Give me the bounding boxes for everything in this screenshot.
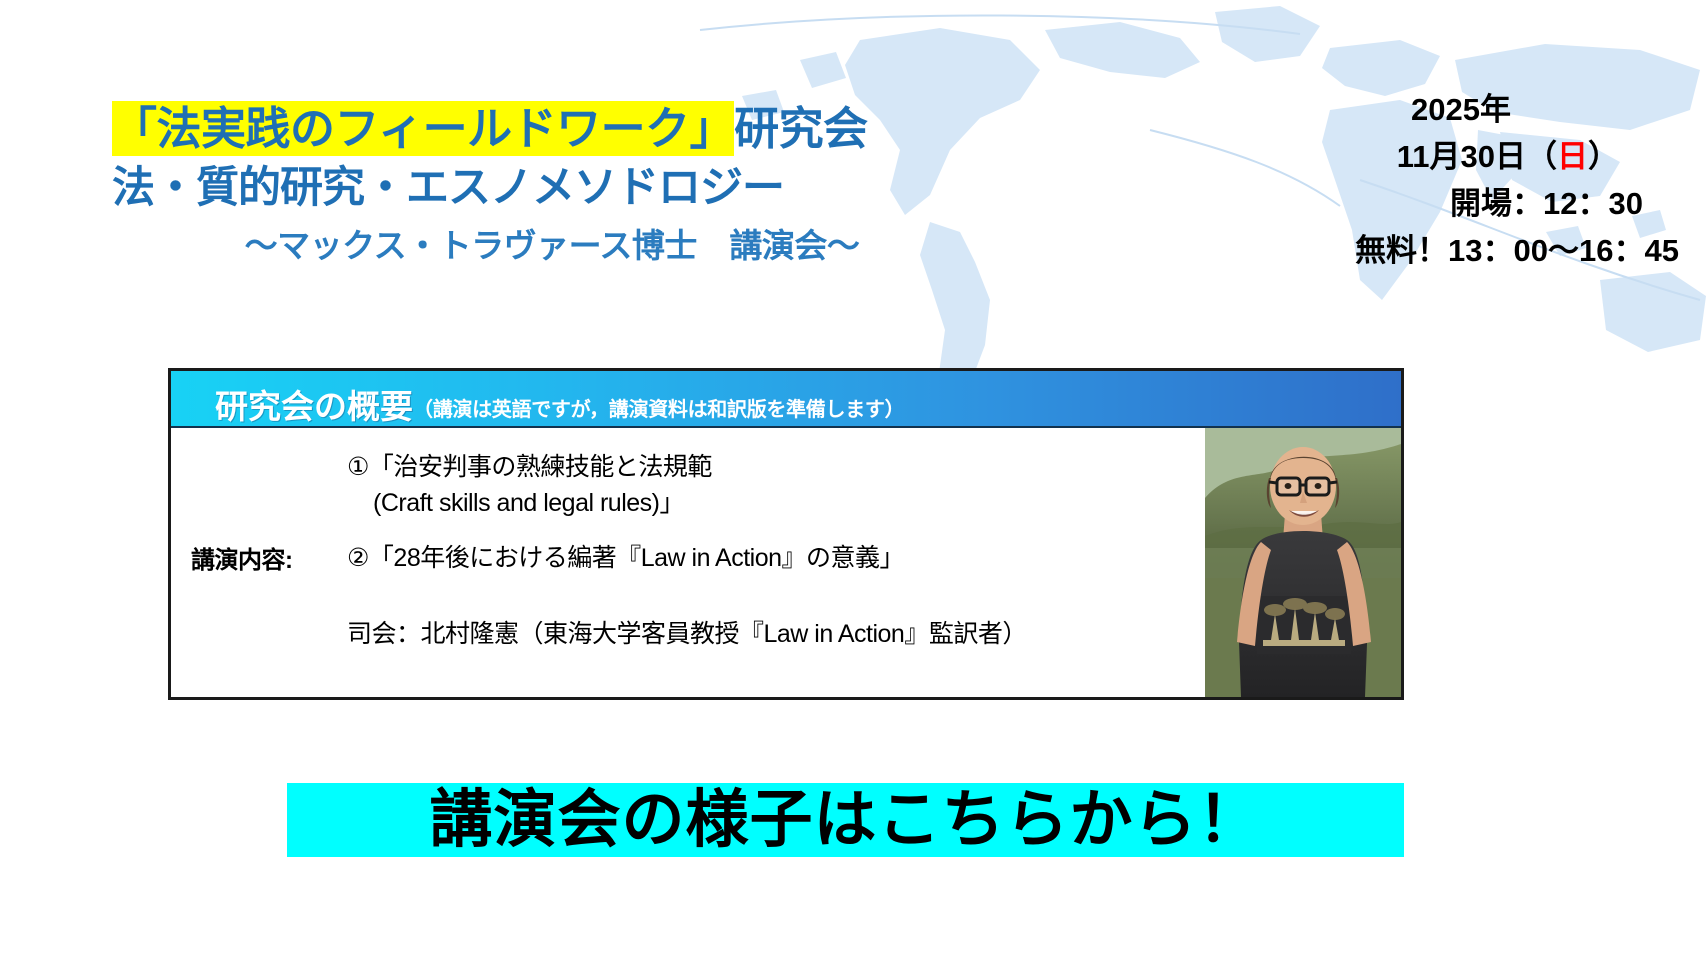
schedule-weekday: 日 [1557,139,1588,174]
page-title: 「法実践のフィールドワーク」研究会 [112,104,1032,154]
schedule-year: 2025年 [1079,86,1679,133]
title-block: 「法実践のフィールドワーク」研究会 法・質的研究・エスノメソドロジー ～マックス… [112,104,1032,267]
schedule-date-close: ） [1588,139,1619,174]
subtitle-primary: 法・質的研究・エスノメソドロジー [112,164,1032,213]
schedule-date: 11月30日（日） [1079,133,1679,180]
poster-header: 「法実践のフィールドワーク」研究会 法・質的研究・エスノメソドロジー ～マックス… [0,0,1707,330]
overview-box-header: 研究会の概要 （講演は英語ですが，講演資料は和訳版を準備します） [171,371,1401,428]
schedule-date-main: 11月30日（ [1397,139,1557,174]
moderator-line: 司会：北村隆憲（東海大学客員教授『Law in Action』監訳者） [347,614,1027,650]
speaker-photo [1205,428,1401,697]
schedule-session-time: 無料！13：00〜16：45 [1079,227,1679,274]
lecture-content-label: 講演内容: [191,540,293,575]
lecture-item-1-line-2: (Craft skills and legal rules)」 [347,486,712,522]
event-poster: 「法実践のフィールドワーク」研究会 法・質的研究・エスノメソドロジー ～マックス… [0,0,1707,960]
title-highlighted-text: 「法実践のフィールドワーク」 [112,101,734,156]
title-tail-text: 研究会 [734,103,868,154]
overview-header-title: 研究会の概要 [215,390,413,423]
lecture-item-1: ①「治安判事の熟練技能と法規範 (Craft skills and legal … [347,450,712,521]
schedule-block: 2025年 11月30日（日） 開場：12：30 無料！13：00〜16：45 [1079,86,1679,274]
schedule-open-time: 開場：12：30 [1079,180,1679,227]
cta-banner-text: 講演会の様子はこちらから！ [430,789,1262,852]
subtitle-secondary: ～マックス・トラヴァース博士 講演会～ [112,219,992,267]
cta-banner[interactable]: 講演会の様子はこちらから！ [287,783,1404,857]
overview-box: 研究会の概要 （講演は英語ですが，講演資料は和訳版を準備します） ①「治安判事の… [168,368,1404,700]
overview-header-note: （講演は英語ですが，講演資料は和訳版を準備します） [413,399,904,423]
lecture-item-1-line-1: ①「治安判事の熟練技能と法規範 [347,453,712,481]
lecture-item-2: ②「28年後における編著『Law in Action』の意義」 [347,538,904,574]
overview-box-body: ①「治安判事の熟練技能と法規範 (Craft skills and legal … [171,428,1401,697]
speaker-portrait-image [1205,428,1401,697]
